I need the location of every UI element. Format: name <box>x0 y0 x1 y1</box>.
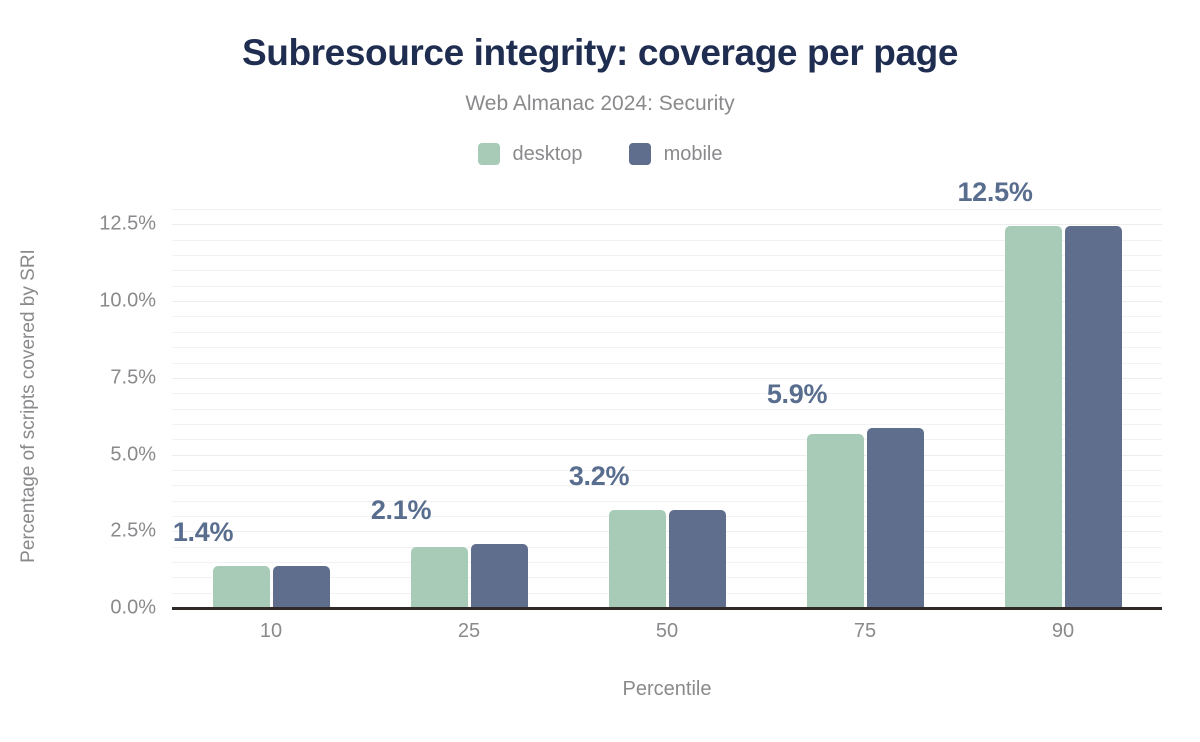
chart-title: Subresource integrity: coverage per page <box>0 32 1200 74</box>
bar-value-label-90: 12.5% <box>957 177 1032 208</box>
bar-mobile-90[interactable] <box>1065 226 1122 608</box>
x-tick-label: 75 <box>765 620 965 643</box>
y-tick-label: 2.5% <box>36 520 156 543</box>
bar-desktop-75[interactable] <box>807 434 864 608</box>
y-tick-label: 7.5% <box>36 366 156 389</box>
bar-value-label-75: 5.9% <box>767 379 827 410</box>
bar-desktop-10[interactable] <box>213 566 270 608</box>
x-tick-label: 90 <box>963 620 1163 643</box>
x-axis-title: Percentile <box>172 678 1162 701</box>
y-tick-label: 5.0% <box>36 443 156 466</box>
bar-desktop-90[interactable] <box>1005 226 1062 608</box>
y-tick-label: 10.0% <box>36 290 156 313</box>
legend-item-desktop[interactable]: desktop <box>478 143 583 165</box>
legend-label-mobile: mobile <box>664 144 723 164</box>
x-tick-label: 25 <box>369 620 569 643</box>
bar-desktop-25[interactable] <box>411 547 468 608</box>
legend-label-desktop: desktop <box>513 144 583 164</box>
chart-container: Subresource integrity: coverage per page… <box>0 0 1200 742</box>
y-tick-label: 12.5% <box>36 213 156 236</box>
bar-mobile-50[interactable] <box>669 510 726 608</box>
bar-mobile-75[interactable] <box>867 428 924 608</box>
plot-area <box>172 206 1162 608</box>
gridline-minor <box>172 209 1162 210</box>
legend-swatch-desktop <box>478 143 500 165</box>
bar-value-label-50: 3.2% <box>569 461 629 492</box>
legend-item-mobile[interactable]: mobile <box>629 143 723 165</box>
bar-mobile-10[interactable] <box>273 566 330 608</box>
bar-value-label-25: 2.1% <box>371 495 431 526</box>
bar-value-label-10: 1.4% <box>173 517 233 548</box>
x-tick-label: 10 <box>171 620 371 643</box>
chart-legend: desktop mobile <box>0 143 1200 165</box>
x-tick-label: 50 <box>567 620 767 643</box>
chart-subtitle: Web Almanac 2024: Security <box>0 92 1200 116</box>
bar-mobile-25[interactable] <box>471 544 528 608</box>
x-axis-line <box>172 607 1162 610</box>
legend-swatch-mobile <box>629 143 651 165</box>
bar-desktop-50[interactable] <box>609 510 666 608</box>
y-tick-label: 0.0% <box>36 597 156 620</box>
